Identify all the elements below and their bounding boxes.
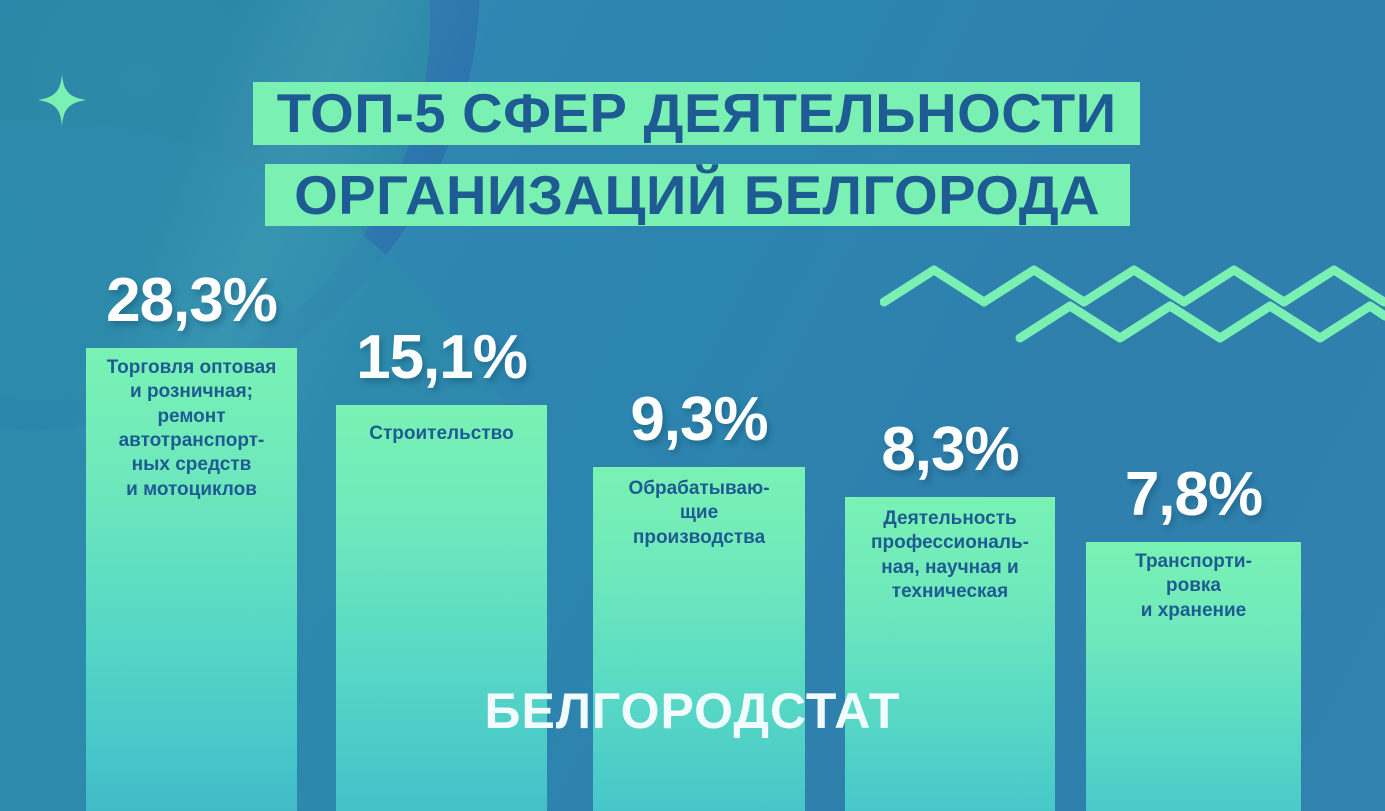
infographic-poster: ТОП-5 СФЕР ДЕЯТЕЛЬНОСТИ ОРГАНИЗАЦИЙ БЕЛГ… — [0, 0, 1385, 811]
bar-label-2: Строительство — [336, 422, 547, 446]
bar-value-1: 28,3% — [86, 270, 297, 332]
bar-value-2: 15,1% — [336, 327, 547, 389]
bar-value-3: 9,3% — [593, 389, 805, 451]
bar-label-1: Торговля оптовая и розничная; ремонт авт… — [86, 356, 297, 502]
watermark-belgorodstat: БЕЛГОРОДСТАТ — [0, 686, 1385, 736]
bar-value-4: 8,3% — [845, 419, 1055, 481]
bar-label-5: Транспорти- ровка и хранение — [1086, 550, 1301, 623]
bar-rect-2 — [336, 405, 547, 811]
bar-value-5: 7,8% — [1086, 464, 1301, 526]
bar-label-4: Деятельность профессиональ- ная, научная… — [845, 507, 1055, 604]
bar-label-3: Обрабатываю- щие производства — [593, 477, 805, 550]
